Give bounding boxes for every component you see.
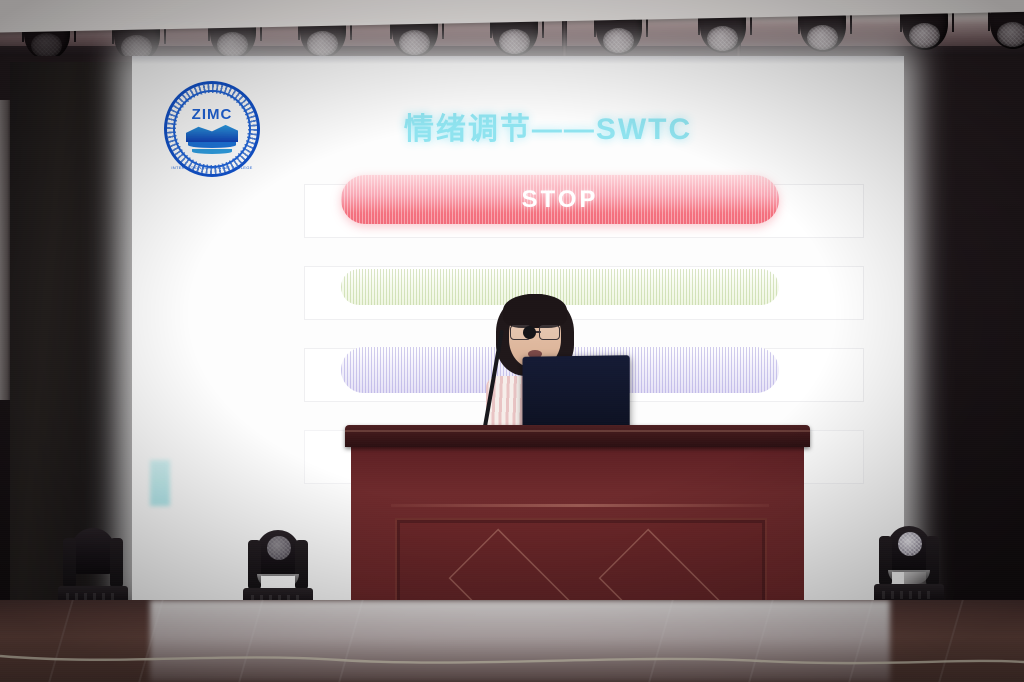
slide-bar-label: STOP	[341, 186, 779, 214]
mover-arm-right	[110, 538, 123, 588]
mover-arm-left	[63, 538, 76, 588]
slide-bar-stop: STOP	[341, 175, 779, 224]
glasses-lens-right	[539, 325, 560, 340]
floor-plank	[48, 600, 74, 682]
mover-arm-right	[295, 540, 308, 590]
logo-wave-2	[192, 149, 232, 154]
mover-lens	[267, 536, 291, 560]
moving-head-light	[243, 520, 313, 612]
laptop	[522, 355, 629, 435]
floor-cable	[0, 652, 1024, 666]
slide-title: 情绪调节——SWTC	[132, 104, 904, 148]
presentation-photo: ZIMC INTERNATIONAL MARITIME COLLEGE 情绪调节…	[0, 0, 1024, 682]
screen-top-edge	[132, 56, 904, 64]
mover-arm-right	[926, 536, 939, 586]
moving-head-light	[58, 518, 128, 610]
lectern-groove-top	[391, 504, 769, 507]
mover-head	[71, 528, 115, 574]
mover-yoke-gap	[257, 574, 299, 588]
stage-floor	[0, 600, 1024, 682]
lectern-top-surface	[345, 425, 810, 447]
floor-plank	[938, 600, 964, 682]
moving-head-light	[874, 516, 944, 608]
mover-yoke-gap	[888, 570, 930, 584]
floor-reflection	[150, 600, 890, 682]
logo-subtitle: INTERNATIONAL MARITIME COLLEGE	[164, 165, 260, 170]
microphone-icon	[523, 326, 536, 339]
slide-teal-accent	[150, 460, 170, 506]
mover-lens	[898, 532, 922, 556]
presenter-hair-front	[503, 294, 567, 328]
slide-row: STOP	[304, 184, 864, 238]
